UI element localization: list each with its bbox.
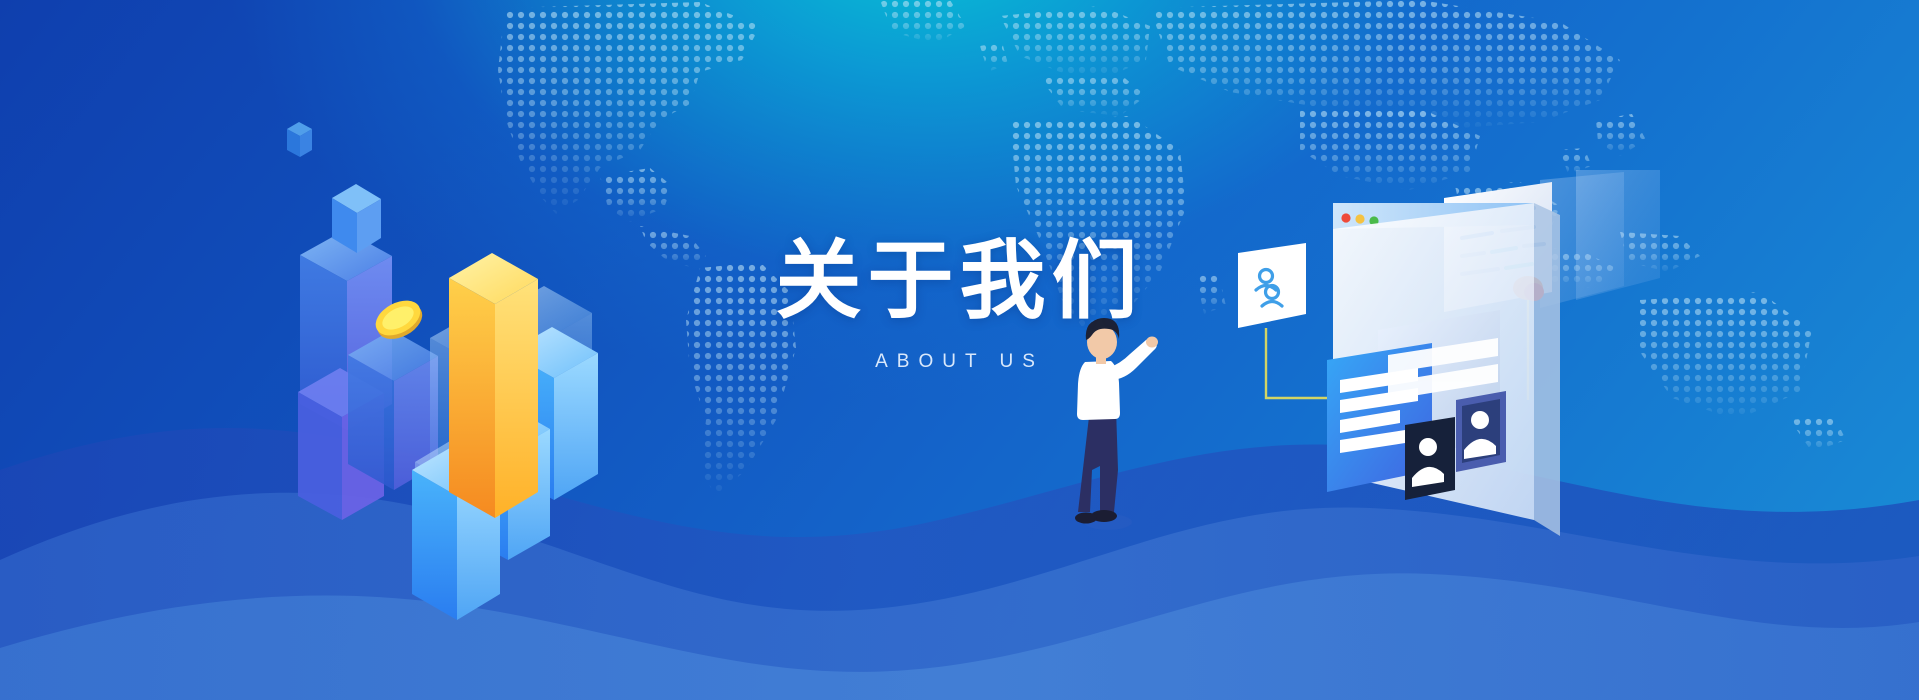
avatar-tile-1 bbox=[1405, 417, 1455, 500]
about-us-banner: 关于我们 ABOUT US bbox=[0, 0, 1919, 700]
person-pointing bbox=[1075, 318, 1158, 530]
browser-window bbox=[1327, 203, 1560, 536]
person-shoe-2 bbox=[1075, 513, 1097, 524]
avatar-tile-2 bbox=[1456, 391, 1506, 472]
person-ui-illustration bbox=[0, 0, 1919, 700]
users-icon-card bbox=[1238, 243, 1306, 328]
traffic-light-yellow bbox=[1355, 214, 1364, 223]
traffic-light-red bbox=[1341, 213, 1350, 222]
person-legs bbox=[1078, 408, 1118, 512]
